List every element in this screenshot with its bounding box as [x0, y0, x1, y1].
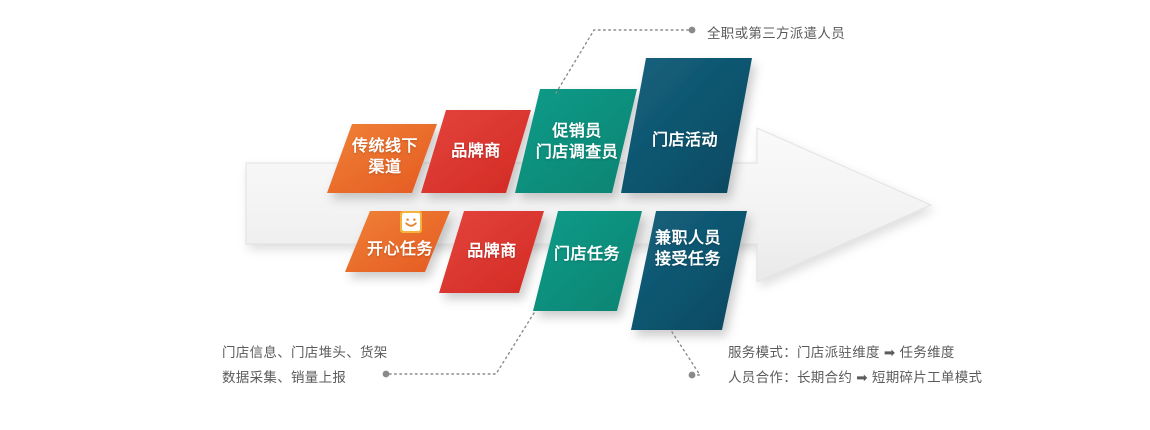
- top-row-steps: [327, 58, 752, 193]
- connector-bottom-right: [672, 332, 700, 375]
- connector-bottom-left: [388, 313, 534, 374]
- annotation-bottom-right: 服务模式：门店派驻维度 ➡ 任务维度 人员合作：长期合约 ➡ 短期碎片工单模式: [728, 341, 982, 391]
- annotation-top-right: 全职或第三方派遣人员: [707, 22, 845, 47]
- smiley-icon: [400, 211, 422, 233]
- connector-dot-top-right: [689, 27, 696, 34]
- connector-dot-bottom-right: [689, 372, 696, 379]
- diagram-canvas: 传统线下 渠道 品牌商 促销员 门店调查员 门店活动 开心任务 品牌商 门店任务…: [0, 0, 1150, 430]
- annotation-bottom-left: 门店信息、门店堆头、货架 数据采集、销量上报: [222, 341, 388, 391]
